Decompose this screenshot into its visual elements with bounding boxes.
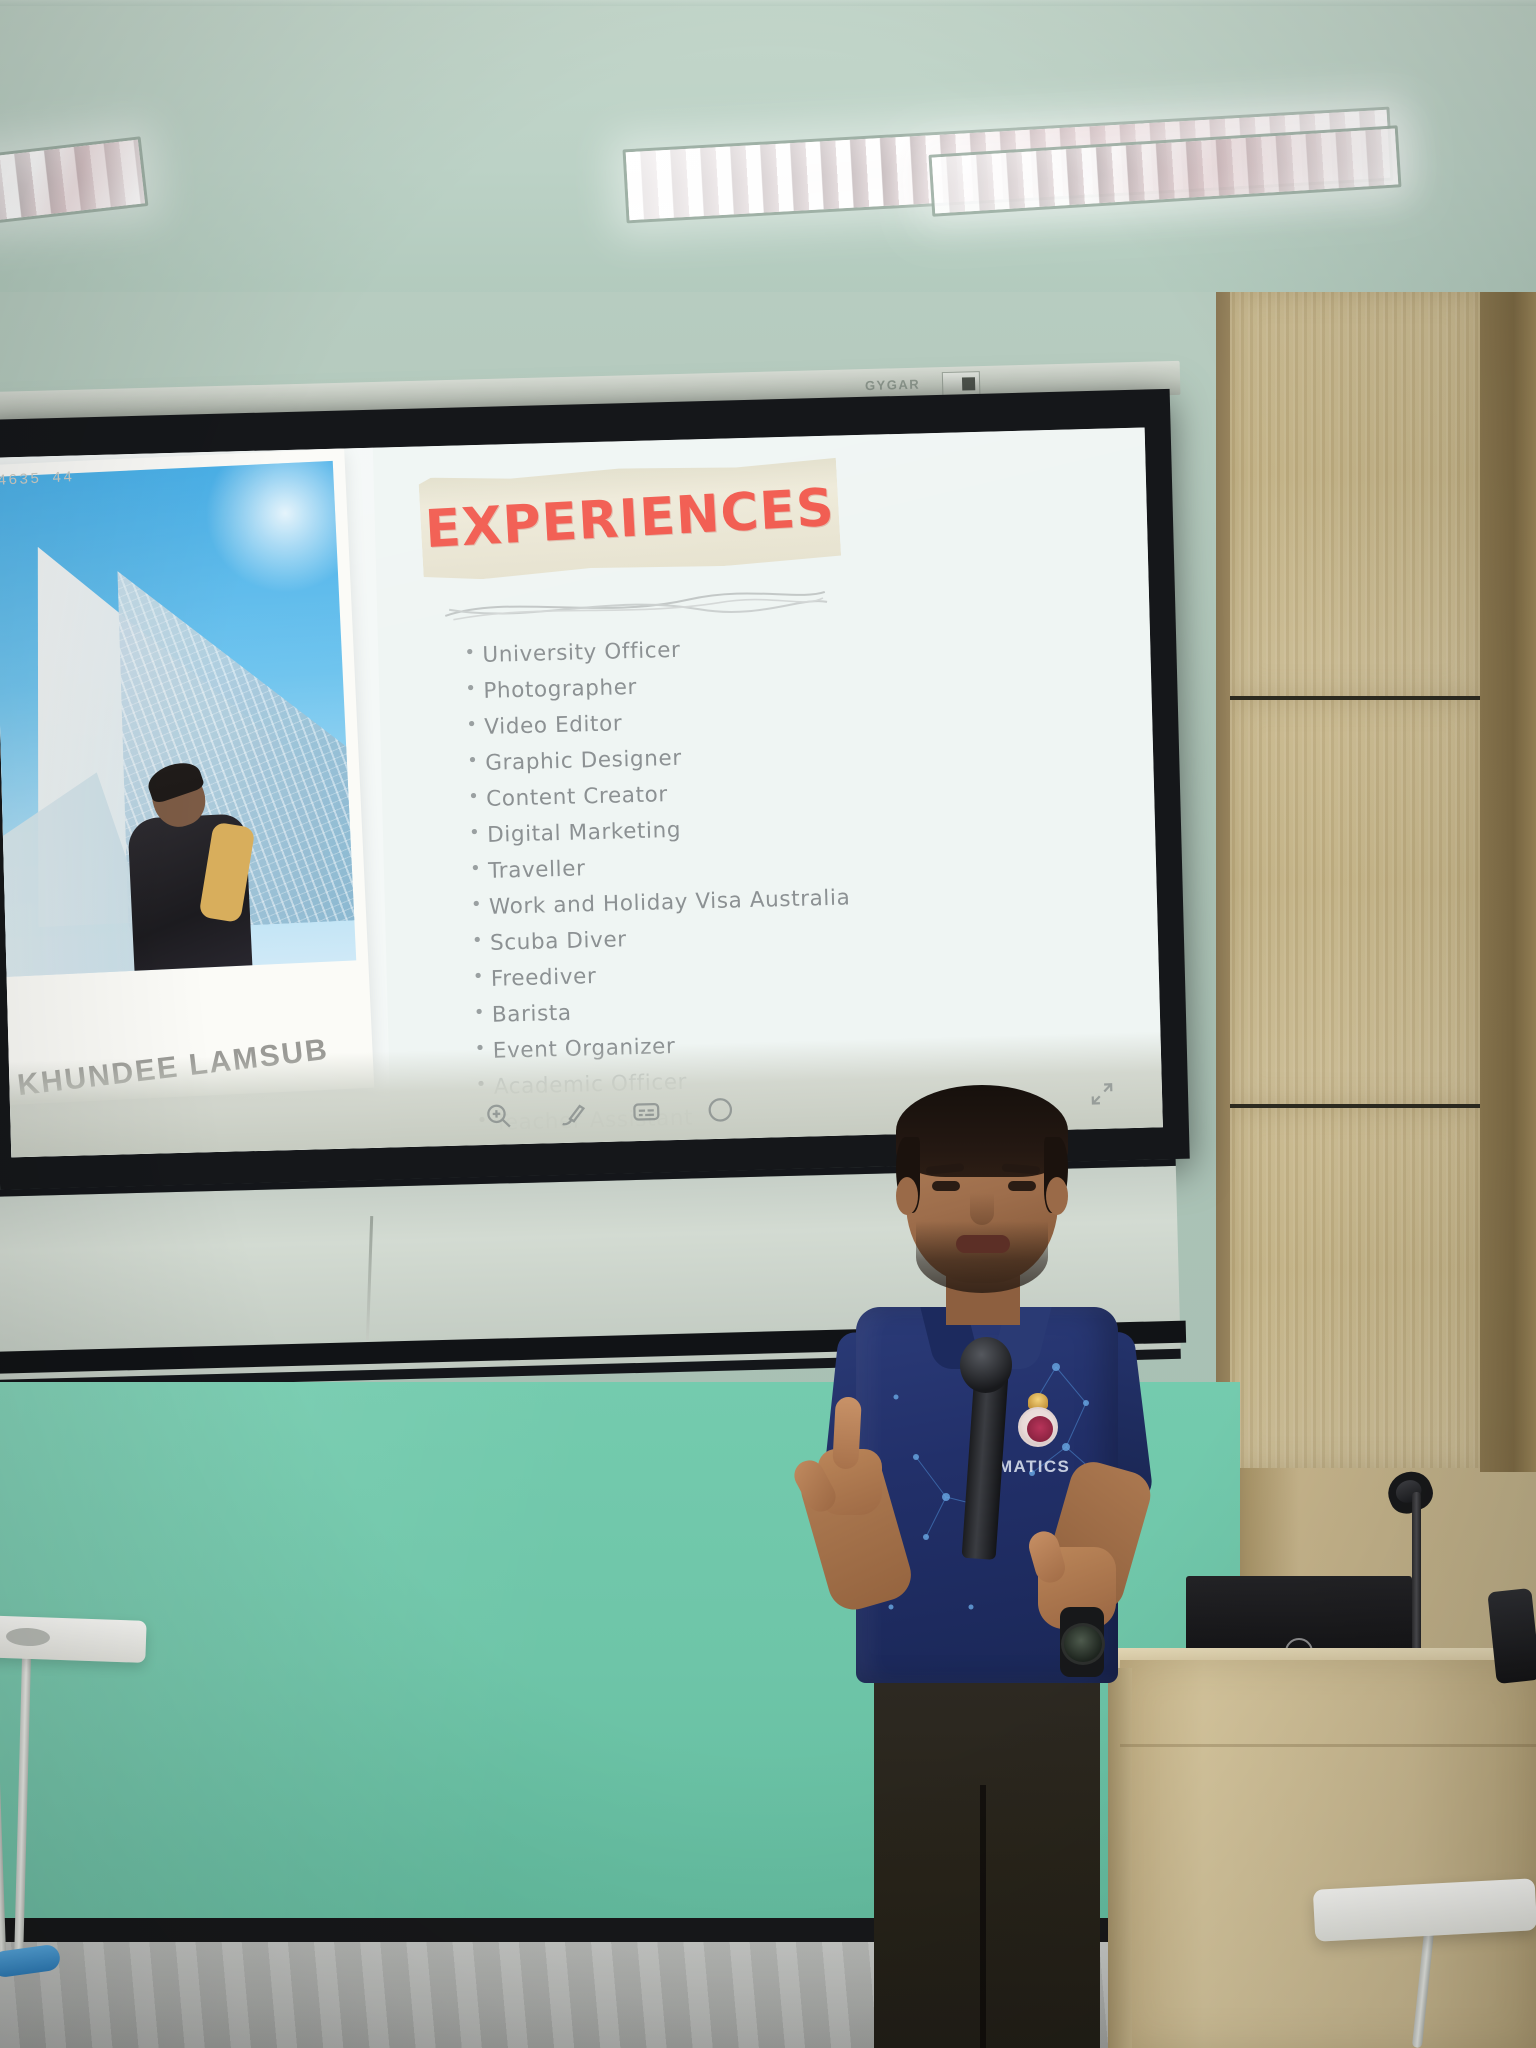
ear-left <box>896 1177 918 1215</box>
projector-screen-surface[interactable]: 11084635 44 KHUNDEE LAMSUB EXPERIENCES <box>0 428 1163 1158</box>
eye-left <box>932 1181 960 1191</box>
beard <box>916 1221 1048 1293</box>
photo-person <box>117 765 266 971</box>
list-item: Freediver <box>473 952 1131 991</box>
ear-right <box>1046 1177 1068 1215</box>
projector-screen-frame: 11084635 44 KHUNDEE LAMSUB EXPERIENCES <box>0 389 1190 1190</box>
wooden-podium <box>1120 1660 1536 2048</box>
list-item: Scuba Diver <box>472 916 1130 955</box>
speaker-trousers <box>874 1655 1100 2048</box>
subtitles-icon[interactable] <box>631 1096 662 1127</box>
experience-bullet-list: University Officer Photographer Video Ed… <box>464 628 1134 1135</box>
list-item: Content Creator <box>468 772 1126 811</box>
screen-brand-label: GYGAR <box>865 377 921 393</box>
presentation-slide: 11084635 44 KHUNDEE LAMSUB EXPERIENCES <box>0 428 1163 1158</box>
side-microphone <box>1487 1588 1536 1684</box>
wood-panel <box>1230 292 1480 696</box>
more-options-icon[interactable] <box>705 1094 736 1125</box>
slide-title-tape: EXPERIENCES <box>418 456 841 582</box>
pen-annotate-icon[interactable] <box>557 1098 588 1129</box>
list-item: Photographer <box>465 664 1123 703</box>
university-crest-pin <box>1016 1393 1060 1449</box>
zoom-in-icon[interactable] <box>483 1100 514 1131</box>
ceiling-seam <box>0 0 1536 6</box>
podium-panel-line <box>1120 1744 1536 1747</box>
list-item: Work and Holiday Visa Australia <box>471 880 1129 919</box>
list-item: Graphic Designer <box>467 736 1125 775</box>
photo-sun-glare <box>201 461 356 597</box>
list-item: Video Editor <box>466 700 1124 739</box>
polaroid-frame: 11084635 44 KHUNDEE LAMSUB <box>0 448 374 1106</box>
mouth <box>956 1235 1010 1253</box>
list-item: Digital Marketing <box>469 808 1127 847</box>
slide-photo-area: 11084635 44 KHUNDEE LAMSUB <box>0 448 391 1158</box>
photo-caption-name: KHUNDEE LAMSUB <box>0 1028 374 1108</box>
lecture-room-photo: GYGAR <box>0 0 1536 2048</box>
shirt-logo-text: MATICS <box>998 1457 1070 1477</box>
left-hand-pointing <box>806 1403 892 1515</box>
wood-wall-edge <box>1480 292 1536 1472</box>
screen-endcap <box>942 371 981 396</box>
trouser-seam <box>980 1785 986 2048</box>
title-underline-scribble <box>439 580 832 630</box>
list-item: Barista <box>474 988 1132 1027</box>
list-item: Traveller <box>470 844 1128 883</box>
slide-title: EXPERIENCES <box>418 456 841 582</box>
sydney-opera-house-photo <box>0 461 356 978</box>
wristwatch <box>1052 1613 1114 1671</box>
slide-content-area: EXPERIENCES University Officer Photograp… <box>373 428 1163 1148</box>
hair <box>896 1085 1068 1177</box>
nose <box>970 1193 994 1225</box>
list-item: University Officer <box>464 628 1122 667</box>
wood-panel <box>1230 700 1480 1104</box>
list-item: Event Organizer <box>475 1024 1133 1063</box>
speaker-person: MATICS <box>820 1085 1150 2048</box>
eye-right <box>1008 1181 1036 1191</box>
wood-panel <box>1230 1108 1480 1468</box>
